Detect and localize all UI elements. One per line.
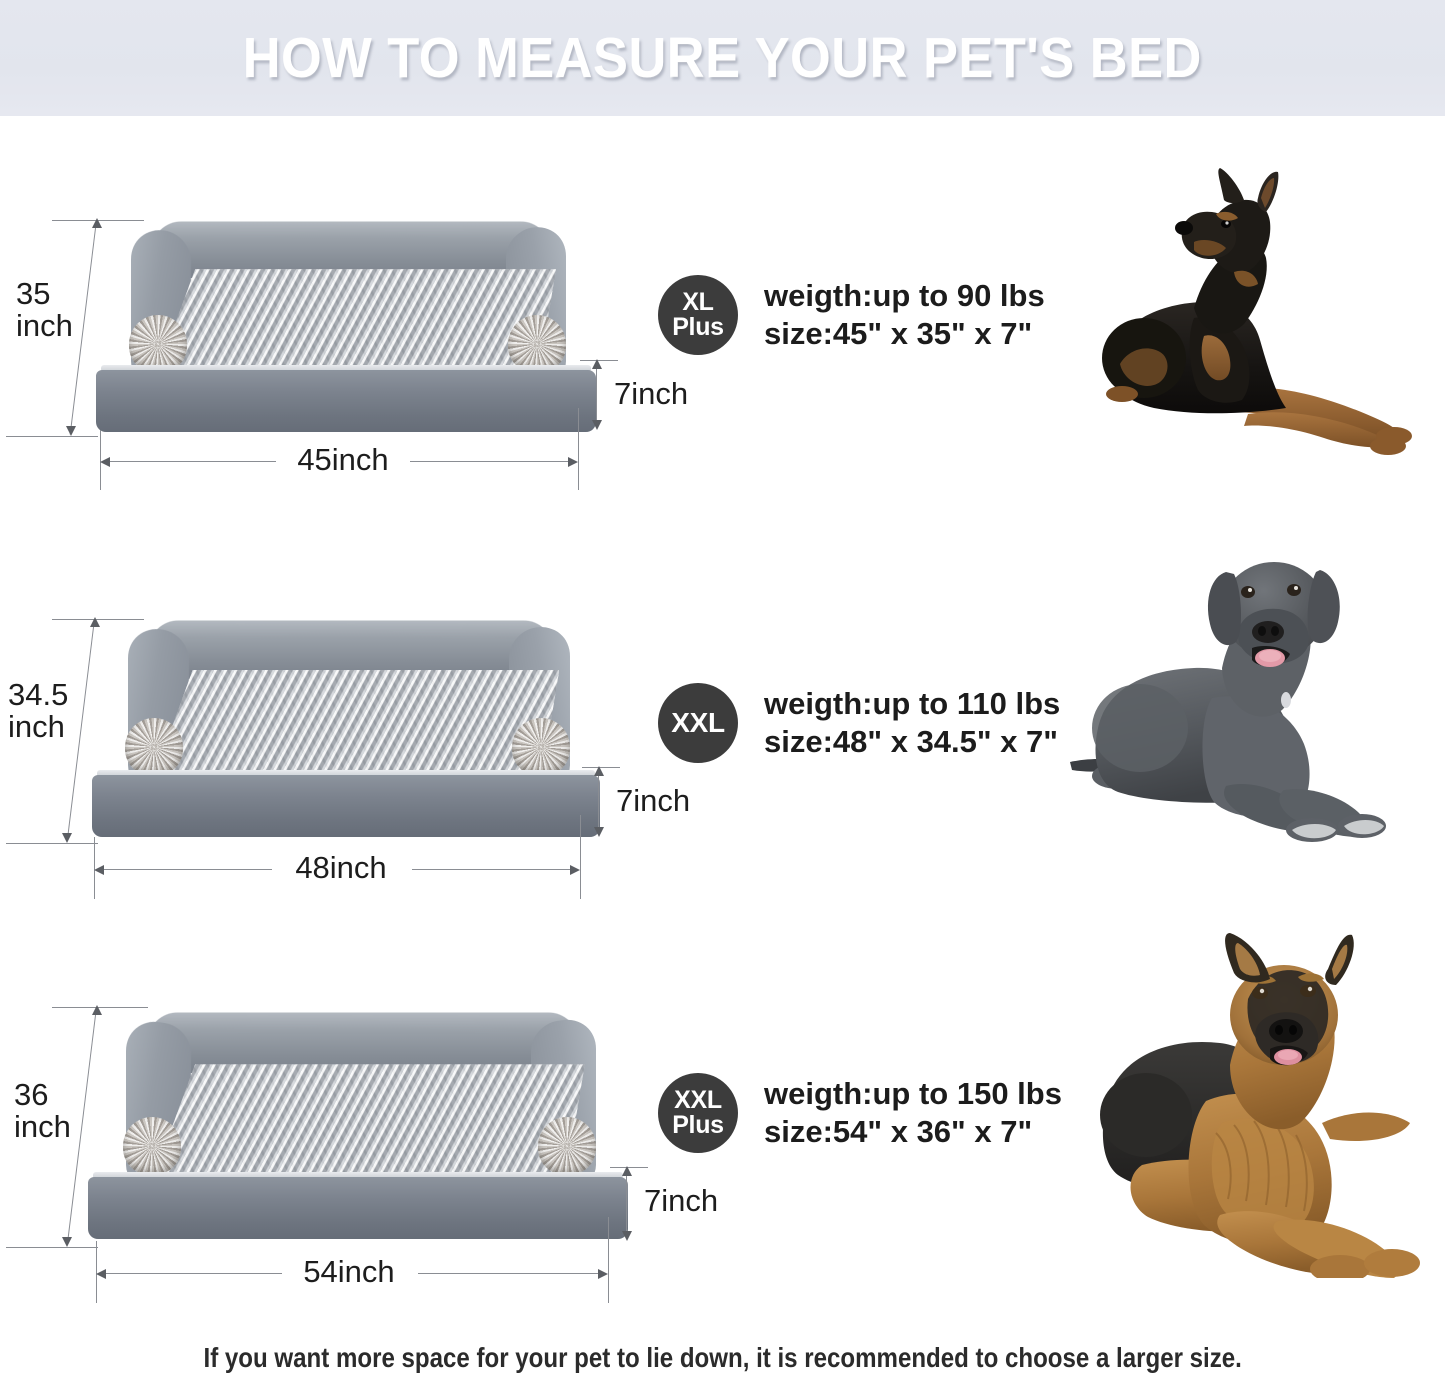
dim-line-depth	[626, 1169, 627, 1239]
dim-arrow-width-left	[96, 1269, 106, 1279]
badge-line1: XXL	[671, 709, 725, 737]
badge-line2: Plus	[672, 315, 724, 340]
dim-arrow-height-bottom	[62, 833, 72, 843]
dim-label-depth: 7inch	[614, 378, 688, 410]
dim-line-width-right	[410, 461, 572, 462]
dim-label-height: 36 inch	[14, 1079, 71, 1143]
dim-label-height: 35 inch	[16, 278, 73, 342]
size-row-xxl-plus: 36 inch 54inch 7inch XXL Plus weigth:up …	[0, 945, 1445, 1345]
dim-line-height	[67, 619, 95, 841]
bed-base	[96, 370, 596, 432]
dim-arrow-width-right	[570, 865, 580, 875]
spec-size-text: size:45" x 35" x 7"	[764, 315, 1045, 353]
dim-arrow-depth-bottom	[622, 1231, 632, 1241]
page-title: HOW TO MEASURE YOUR PET'S BED	[243, 25, 1202, 91]
spec-weight-text: weigth:up to 110 lbs	[764, 685, 1060, 723]
great-dane-photo	[1062, 548, 1442, 848]
german-shepherd-photo	[1072, 933, 1444, 1278]
dim-line-depth	[596, 362, 597, 428]
size-row-xl-plus: 35 inch 45inch 7inch XL Plus weigth:up t…	[0, 150, 1445, 550]
ext-line-bottom	[6, 1247, 98, 1248]
pet-bed-xxl	[92, 611, 600, 837]
size-badge-xl-plus: XL Plus	[658, 275, 738, 355]
dim-line-width-left	[102, 869, 272, 870]
ext-line-right	[608, 1217, 609, 1303]
ext-line-right	[580, 815, 581, 899]
bolster-cap-left	[129, 315, 187, 373]
dim-line-depth	[598, 769, 599, 835]
bed-illustration-xxl-plus: 36 inch 54inch 7inch	[0, 945, 660, 1345]
dim-label-height: 34.5 inch	[8, 679, 68, 743]
doberman-illustration	[1098, 168, 1438, 458]
footer-note: If you want more space for your pet to l…	[203, 1342, 1241, 1374]
page-footer: If you want more space for your pet to l…	[0, 1330, 1445, 1386]
dim-line-width-left	[104, 1273, 282, 1274]
badge-line1: XXL	[674, 1088, 722, 1113]
dim-arrow-width-right	[568, 457, 578, 467]
dim-label-width: 48inch	[276, 852, 406, 884]
pet-bed-xxl-plus	[88, 1003, 628, 1239]
size-badge-xxl: XXL	[658, 683, 738, 763]
bed-base	[92, 775, 600, 837]
dim-arrow-height-top	[90, 617, 100, 627]
bolster-cap-right	[538, 1117, 596, 1175]
bolster-cap-right	[508, 315, 566, 373]
dim-arrow-depth-bottom	[594, 827, 604, 837]
bolster-cap-right	[512, 718, 570, 776]
dim-arrow-depth-top	[592, 359, 602, 369]
badge-line2: Plus	[672, 1113, 724, 1138]
pet-bed-xl-plus	[96, 212, 596, 432]
bed-illustration-xxl: 34.5 inch 48inch 7inch	[0, 553, 660, 953]
dim-arrow-width-left	[100, 457, 110, 467]
bed-illustration-xl-plus: 35 inch 45inch 7inch	[0, 150, 660, 550]
great-dane-illustration	[1062, 548, 1442, 848]
spec-size-text: size:48" x 34.5" x 7"	[764, 723, 1060, 761]
dim-line-height	[70, 220, 97, 435]
dim-arrow-depth-top	[622, 1166, 632, 1176]
spec-block-xl-plus: XL Plus weigth:up to 90 lbs size:45" x 3…	[658, 275, 1045, 355]
dim-arrow-height-top	[92, 1005, 102, 1015]
size-badge-xxl-plus: XXL Plus	[658, 1073, 738, 1153]
dim-arrow-height-top	[92, 218, 102, 228]
dim-arrow-width-right	[598, 1269, 608, 1279]
spec-text-group: weigth:up to 110 lbs size:48" x 34.5" x …	[764, 685, 1060, 761]
dim-label-depth: 7inch	[644, 1185, 718, 1217]
bolster-cap-left	[125, 718, 183, 776]
spec-block-xxl-plus: XXL Plus weigth:up to 150 lbs size:54" x…	[658, 1073, 1062, 1153]
badge-line1: XL	[682, 290, 713, 315]
dim-line-width-right	[412, 869, 574, 870]
dim-label-depth: 7inch	[616, 785, 690, 817]
dim-arrow-width-left	[94, 865, 104, 875]
dim-line-width-left	[108, 461, 276, 462]
size-row-xxl: 34.5 inch 48inch 7inch XXL weigth:up to …	[0, 553, 1445, 953]
ext-line-bottom	[6, 843, 98, 844]
spec-text-group: weigth:up to 90 lbs size:45" x 35" x 7"	[764, 277, 1045, 353]
dim-arrow-depth-top	[594, 766, 604, 776]
dim-label-width: 54inch	[284, 1256, 414, 1288]
ext-line-right	[578, 408, 579, 490]
dim-arrow-height-bottom	[66, 426, 76, 436]
spec-text-group: weigth:up to 150 lbs size:54" x 36" x 7"	[764, 1075, 1062, 1151]
german-shepherd-illustration	[1072, 933, 1444, 1278]
bed-base	[88, 1177, 628, 1239]
spec-block-xxl: XXL weigth:up to 110 lbs size:48" x 34.5…	[658, 683, 1060, 763]
ext-line-bottom	[6, 436, 98, 437]
spec-weight-text: weigth:up to 90 lbs	[764, 277, 1045, 315]
dim-arrow-depth-bottom	[592, 420, 602, 430]
dim-arrow-height-bottom	[62, 1237, 72, 1247]
doberman-photo	[1098, 168, 1438, 458]
bolster-cap-left	[123, 1117, 181, 1175]
spec-weight-text: weigth:up to 150 lbs	[764, 1075, 1062, 1113]
spec-size-text: size:54" x 36" x 7"	[764, 1113, 1062, 1151]
dim-line-width-right	[418, 1273, 602, 1274]
page-header: HOW TO MEASURE YOUR PET'S BED	[0, 0, 1445, 116]
dim-label-width: 45inch	[280, 444, 406, 476]
